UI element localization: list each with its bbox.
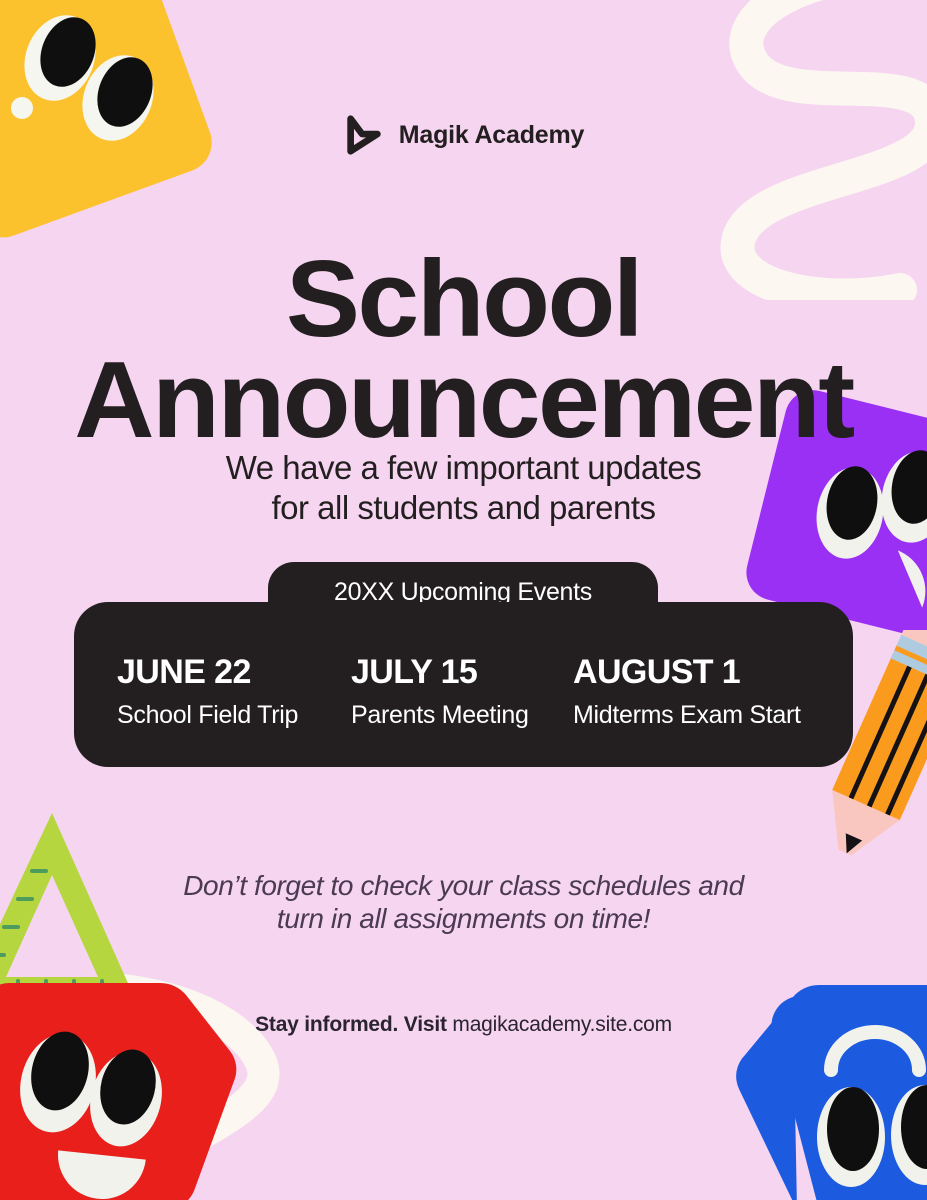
event-name: Parents Meeting xyxy=(351,703,529,728)
content-layer: Magik Academy School Announcement We hav… xyxy=(0,0,927,1200)
event-name: School Field Trip xyxy=(117,703,298,728)
reminder-line-2: turn in all assignments on time! xyxy=(0,903,927,936)
brand-lockup: Magik Academy xyxy=(0,113,927,157)
event-date: AUGUST 1 xyxy=(573,655,801,689)
subtitle: We have a few important updates for all … xyxy=(0,448,927,529)
page-title-line-1: School xyxy=(0,249,927,350)
subtitle-line-2: for all students and parents xyxy=(0,488,927,528)
upcoming-events-card: 20XX Upcoming Events JUNE 22 School Fiel… xyxy=(0,562,927,767)
event-date: JUNE 22 xyxy=(117,655,298,689)
footer-url[interactable]: magikacademy.site.com xyxy=(452,1013,672,1036)
reminder-line-1: Don’t forget to check your class schedul… xyxy=(0,870,927,903)
event-item: JULY 15 Parents Meeting xyxy=(351,655,529,728)
poster-canvas: Magik Academy School Announcement We hav… xyxy=(0,0,927,1200)
subtitle-line-1: We have a few important updates xyxy=(0,448,927,488)
play-arrow-outline-icon xyxy=(343,113,385,157)
footer-lead: Stay informed. Visit xyxy=(255,1013,452,1036)
page-title-line-2: Announcement xyxy=(0,350,927,451)
events-card-body: JUNE 22 School Field Trip JULY 15 Parent… xyxy=(74,602,853,767)
event-item: JUNE 22 School Field Trip xyxy=(117,655,298,728)
event-date: JULY 15 xyxy=(351,655,529,689)
footer-line: Stay informed. Visit magikacademy.site.c… xyxy=(0,1014,927,1035)
reminder-note: Don’t forget to check your class schedul… xyxy=(0,870,927,936)
event-item: AUGUST 1 Midterms Exam Start xyxy=(573,655,801,728)
page-title: School Announcement xyxy=(0,249,927,452)
brand-name: Magik Academy xyxy=(399,121,584,150)
event-name: Midterms Exam Start xyxy=(573,703,801,728)
